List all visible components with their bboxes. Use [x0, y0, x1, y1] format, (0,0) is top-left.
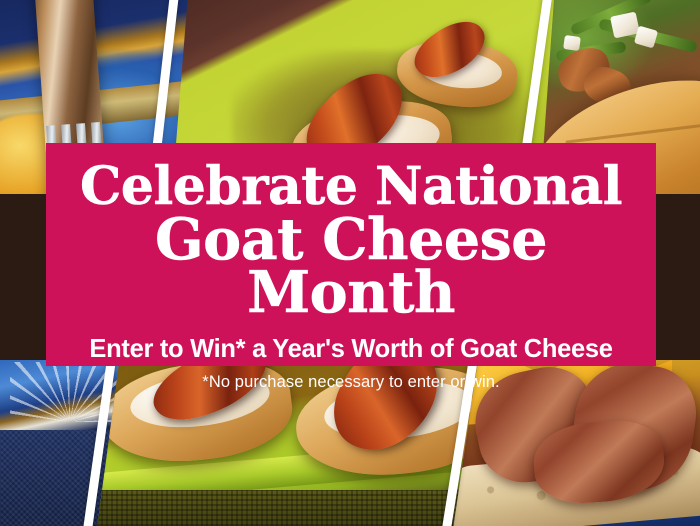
promo-fine-print: *No purchase necessary to enter or win.	[56, 374, 646, 391]
promo-subheadline: Enter to Win* a Year's Worth of Goat Che…	[62, 335, 640, 361]
cheese-crumble-graphic	[563, 35, 581, 51]
headline-line-2: Goat Cheese Month	[56, 211, 646, 319]
headline-line-1: Celebrate National	[56, 157, 646, 211]
placemat-texture-graphic	[96, 490, 486, 526]
promo-banner: Celebrate National Goat Cheese Month Ent…	[0, 0, 700, 526]
promo-message-panel: Celebrate National Goat Cheese Month Ent…	[46, 143, 656, 366]
cheese-crumble-graphic	[634, 26, 658, 49]
